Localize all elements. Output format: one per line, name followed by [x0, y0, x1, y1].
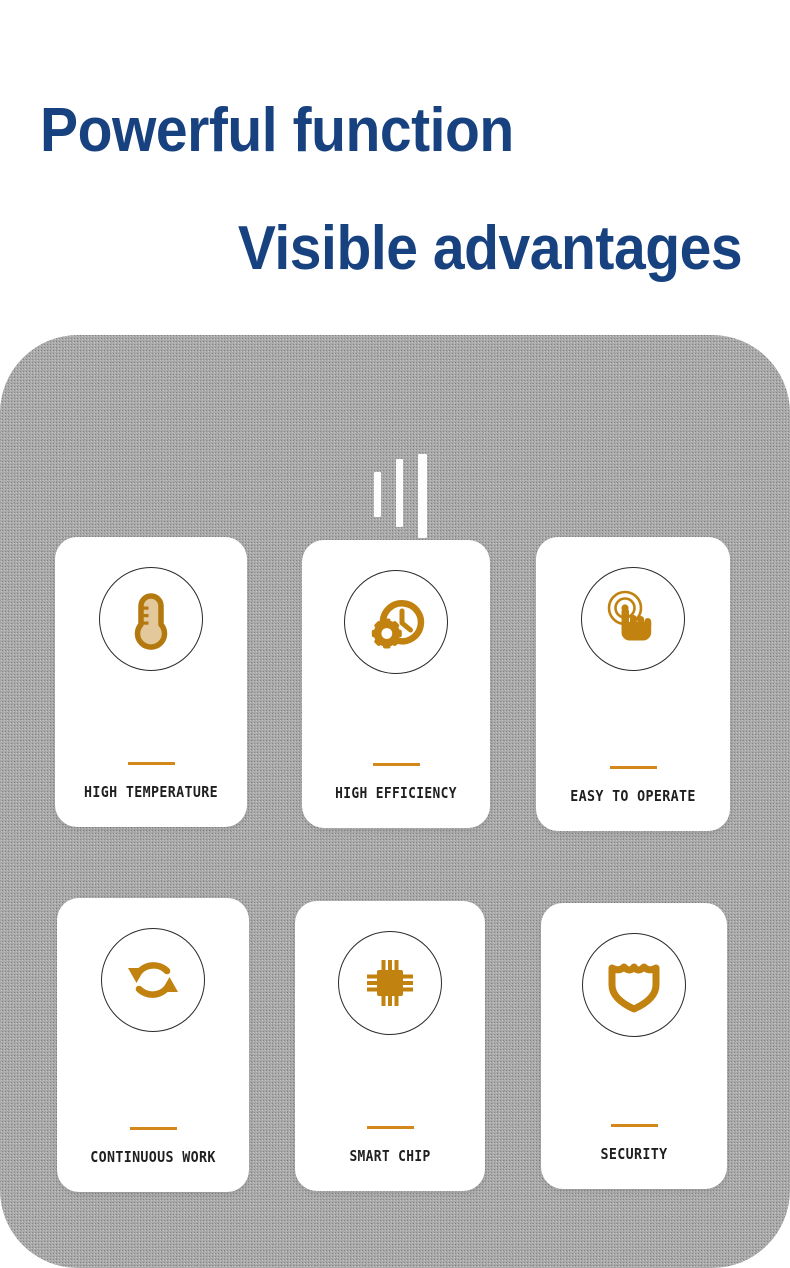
- shield-icon: [604, 955, 664, 1015]
- feature-card-label: SMART CHIP: [308, 1147, 471, 1165]
- feature-card-high-efficiency[interactable]: HIGH EFFICIENCY: [302, 540, 490, 828]
- feature-panel: HIGH TEMPERATURE HI: [0, 335, 790, 1268]
- page-title-line-2: Visible advantages: [238, 218, 742, 280]
- decor-bar-short: [374, 472, 381, 517]
- page-title-line-1: Powerful function: [40, 100, 514, 162]
- thermometer-icon: [120, 588, 182, 650]
- decor-bar-tall: [418, 454, 427, 538]
- card-divider: [373, 763, 420, 766]
- touch-hand-icon: [602, 588, 664, 650]
- feature-card-continuous-work[interactable]: CONTINUOUS WORK: [57, 898, 249, 1192]
- card-divider: [611, 1124, 658, 1127]
- feature-card-label: CONTINUOUS WORK: [70, 1148, 235, 1166]
- decorative-bars: [372, 393, 432, 538]
- feature-card-smart-chip[interactable]: SMART CHIP: [295, 901, 485, 1191]
- cpu-chip-icon: [361, 954, 419, 1012]
- feature-card-easy-to-operate[interactable]: EASY TO OPERATE: [536, 537, 730, 831]
- feature-card-high-temperature[interactable]: HIGH TEMPERATURE: [55, 537, 247, 827]
- card-divider: [367, 1126, 414, 1129]
- feature-card-label: EASY TO OPERATE: [550, 787, 717, 805]
- card-divider: [130, 1127, 177, 1130]
- feature-card-security[interactable]: SECURITY: [541, 903, 727, 1189]
- feature-card-label: SECURITY: [554, 1145, 714, 1163]
- card-divider: [128, 762, 175, 765]
- headings-block: Powerful function Visible advantages: [0, 0, 790, 335]
- refresh-cycle-icon: [122, 949, 184, 1011]
- icon-frame: [99, 567, 203, 671]
- feature-card-label: HIGH EFFICIENCY: [315, 784, 477, 802]
- clock-gear-icon: [365, 591, 427, 653]
- icon-frame: [338, 931, 442, 1035]
- icon-frame: [582, 933, 686, 1037]
- feature-card-label: HIGH TEMPERATURE: [68, 783, 233, 801]
- icon-frame: [344, 570, 448, 674]
- icon-frame: [581, 567, 685, 671]
- card-divider: [610, 766, 657, 769]
- icon-frame: [101, 928, 205, 1032]
- decor-bar-medium: [396, 459, 403, 527]
